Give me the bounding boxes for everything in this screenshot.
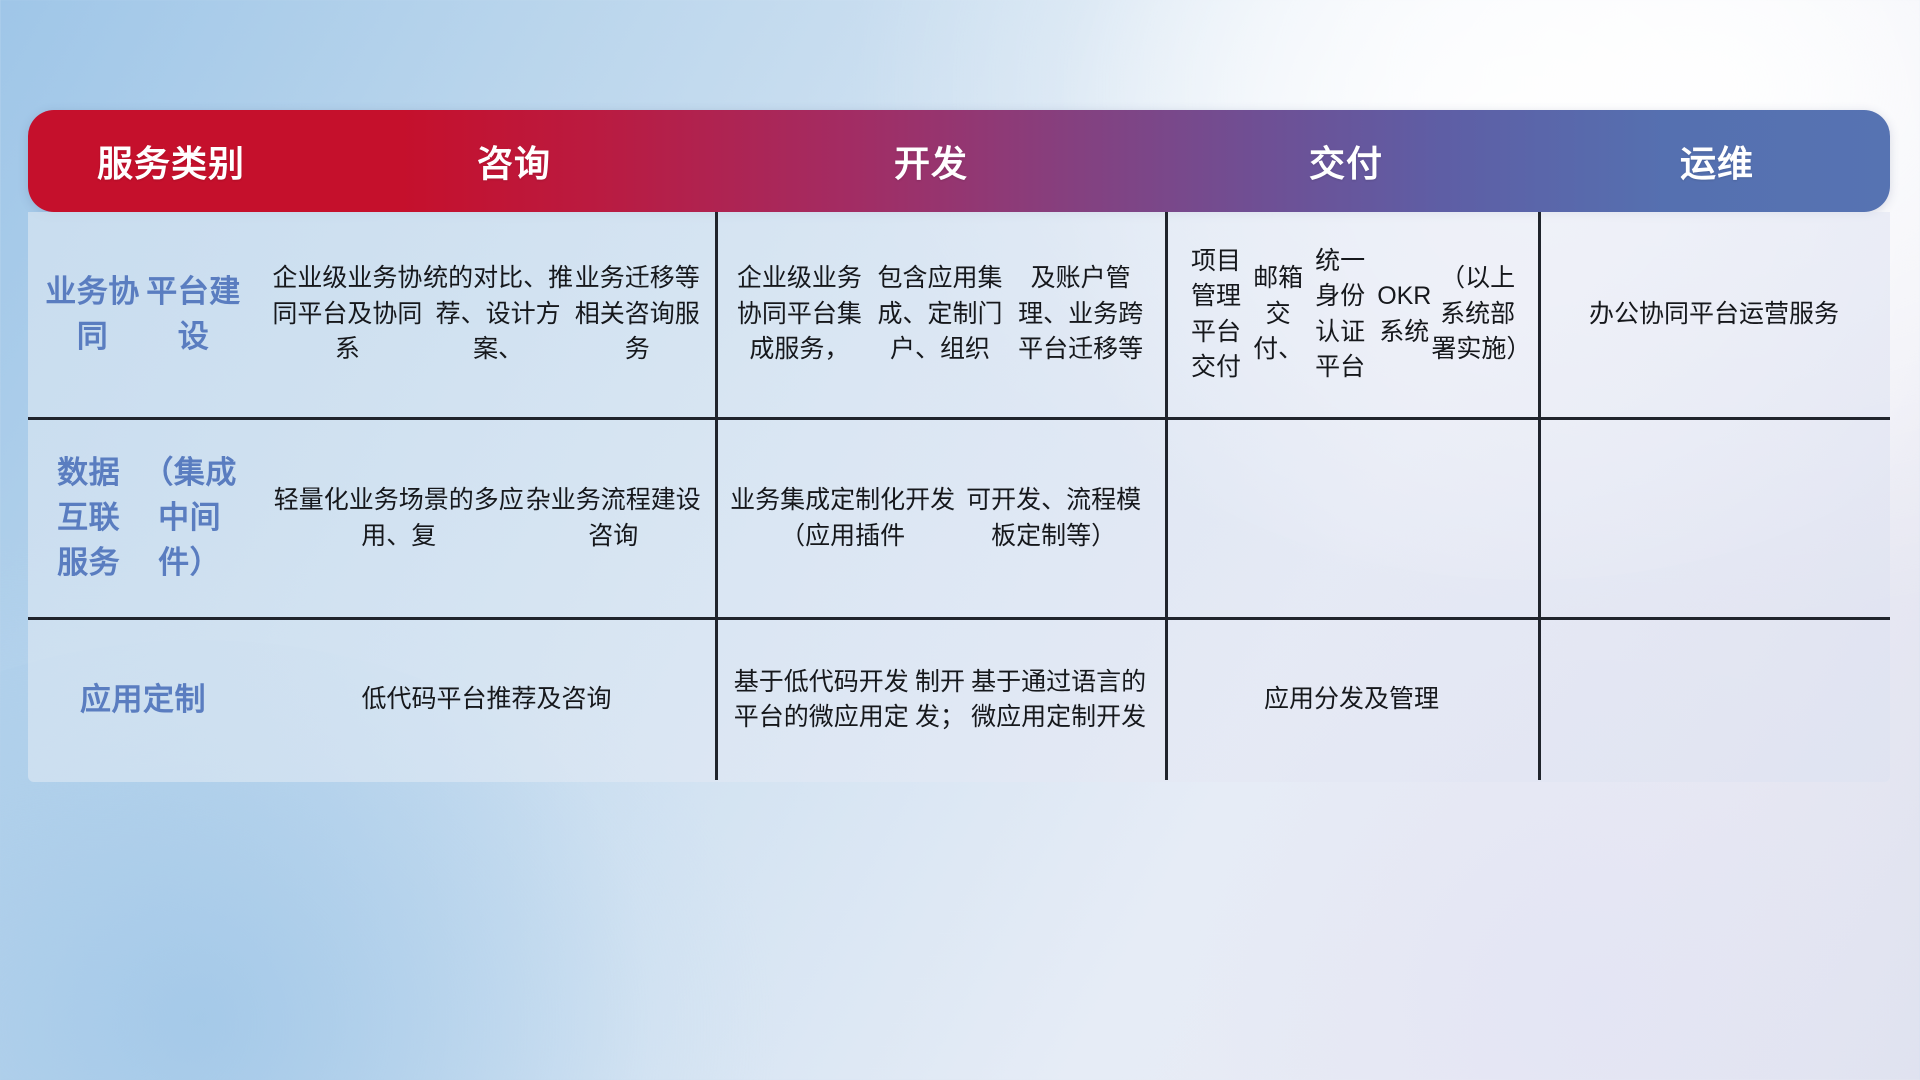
cell-row2-operations — [1538, 420, 1890, 617]
cell-row1-delivery: 项目管理平台交付邮箱交付、统一身份认证平台OKR系统（以上系统部署实施） — [1165, 212, 1538, 417]
column-header-delivery: 交付 — [1148, 135, 1544, 187]
cell-row1-operations: 办公协同平台运营服务 — [1538, 212, 1890, 417]
service-matrix-table: 服务类别 咨询 开发 交付 运维 业务协同平台建设 企业级业务协同平台及协同系统… — [28, 110, 1890, 782]
cell-row3-consulting: 低代码平台推荐及咨询 — [258, 620, 715, 780]
cell-row3-delivery: 应用分发及管理 — [1165, 620, 1538, 780]
table-row: 数据互联服务（集成中间件） 轻量化业务场景的多应用、复杂业务流程建设咨询 业务集… — [28, 420, 1890, 617]
cell-row3-operations — [1538, 620, 1890, 780]
column-header-development: 开发 — [714, 135, 1148, 187]
cell-row1-development: 企业级业务协同平台集成服务，包含应用集成、定制门户、组织及账户管理、业务跨平台迁… — [715, 212, 1165, 417]
cell-row2-delivery — [1165, 420, 1538, 617]
column-header-category: 服务类别 — [28, 135, 314, 187]
table-row: 业务协同平台建设 企业级业务协同平台及协同系统的对比、推荐、设计方案、业务迁移等… — [28, 212, 1890, 417]
table-body: 业务协同平台建设 企业级业务协同平台及协同系统的对比、推荐、设计方案、业务迁移等… — [28, 212, 1890, 782]
row-label-2: 数据互联服务（集成中间件） — [28, 420, 258, 617]
cell-row1-consulting: 企业级业务协同平台及协同系统的对比、推荐、设计方案、业务迁移等相关咨询服务 — [258, 212, 715, 417]
table-header-row: 服务类别 咨询 开发 交付 运维 — [28, 110, 1890, 212]
column-header-consulting: 咨询 — [314, 135, 714, 187]
column-header-operations: 运维 — [1544, 135, 1890, 187]
cell-row3-development: 基于低代码开发平台的微应用定制开发；基于通过语言的微应用定制开发 — [715, 620, 1165, 780]
row-label-1: 业务协同平台建设 — [28, 212, 258, 417]
cell-row2-development: 业务集成定制化开发（应用插件可开发、流程模板定制等） — [715, 420, 1165, 617]
table-row: 应用定制 低代码平台推荐及咨询 基于低代码开发平台的微应用定制开发；基于通过语言… — [28, 620, 1890, 780]
row-label-3: 应用定制 — [28, 620, 258, 780]
cell-row2-consulting: 轻量化业务场景的多应用、复杂业务流程建设咨询 — [258, 420, 715, 617]
